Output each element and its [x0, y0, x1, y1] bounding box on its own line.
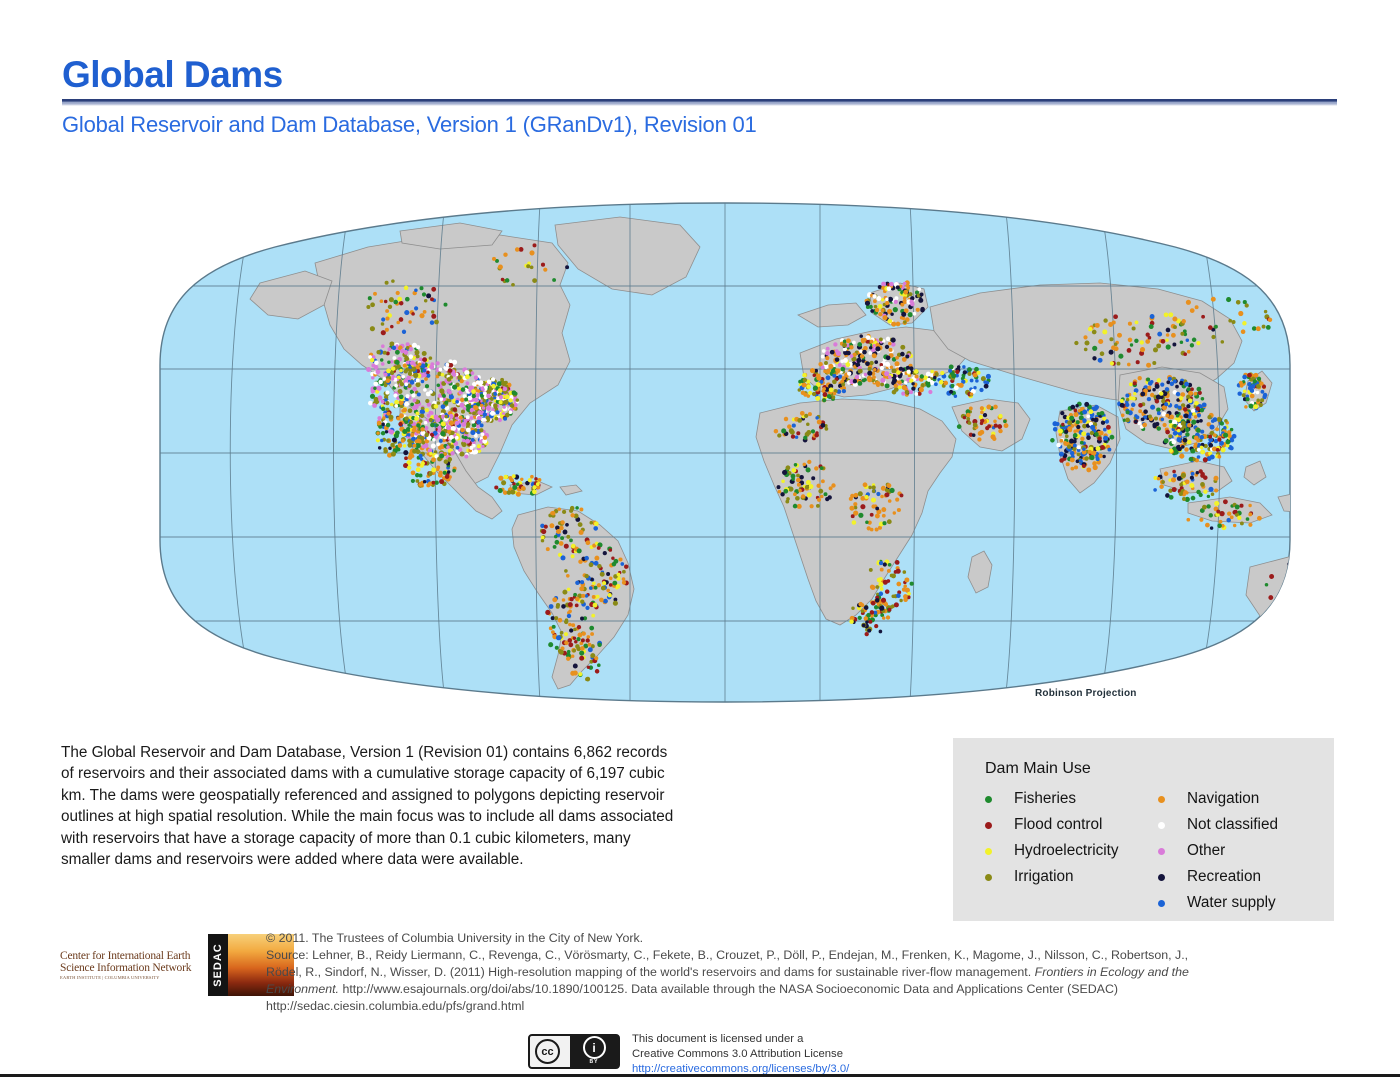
sedac-badge: SEDAC [208, 934, 228, 996]
page-subtitle: Global Reservoir and Dam Database, Versi… [62, 112, 1337, 138]
legend-label: Not classified [1187, 816, 1278, 834]
cc-by-icon: i BY [570, 1036, 618, 1067]
legend-item-not-classified[interactable]: Not classified [1158, 812, 1328, 838]
legend-label: Navigation [1187, 790, 1259, 808]
license-line-2: Creative Commons 3.0 Attribution License [632, 1047, 849, 1062]
source-line-1: Source: Lehner, B., Reidy Liermann, C., … [266, 947, 1366, 964]
legend-panel: Dam Main Use Fisheries Flood control Hyd… [953, 738, 1334, 921]
legend-swatch-icon [1158, 874, 1165, 881]
legend-item-water-supply[interactable]: Water supply [1158, 890, 1328, 916]
source-url[interactable]: http://sedac.ciesin.columbia.edu/pfs/gra… [266, 998, 1366, 1015]
title-divider [62, 99, 1337, 106]
ciesin-logo: Center for International Earth Science I… [60, 934, 210, 996]
legend-swatch-icon [985, 796, 992, 803]
cc-logo-icon: cc [535, 1039, 560, 1064]
page-header: Global Dams Global Reservoir and Dam Dat… [62, 56, 1337, 138]
legend-item-recreation[interactable]: Recreation [1158, 864, 1328, 890]
license-text: This document is licensed under a Creati… [632, 1032, 849, 1077]
legend-label: Flood control [1014, 816, 1102, 834]
legend-item-flood-control[interactable]: Flood control [985, 812, 1155, 838]
legend-label: Water supply [1187, 894, 1276, 912]
legend-swatch-icon [985, 848, 992, 855]
ciesin-line-1: Center for International Earth [60, 950, 210, 962]
legend-label: Other [1187, 842, 1225, 860]
legend-column-right: Navigation Not classified Other Recreati… [1158, 786, 1328, 916]
description-paragraph: The Global Reservoir and Dam Database, V… [61, 742, 676, 870]
legend-item-irrigation[interactable]: Irrigation [985, 864, 1155, 890]
sedac-badge-label: SEDAC [212, 943, 224, 987]
citation-block: © 2011. The Trustees of Columbia Univers… [266, 930, 1366, 1016]
source-line-2: Rödel, R., Sindorf, N., Wisser, D. (2011… [266, 964, 1366, 981]
legend-item-fisheries[interactable]: Fisheries [985, 786, 1155, 812]
legend-item-navigation[interactable]: Navigation [1158, 786, 1328, 812]
legend-label: Irrigation [1014, 868, 1074, 886]
source-line-2-text: Rödel, R., Sindorf, N., Wisser, D. (2011… [266, 965, 1035, 979]
legend-swatch-icon [1158, 796, 1165, 803]
journal-name-part-1: Frontiers in Ecology and the [1035, 965, 1189, 979]
legend-item-other[interactable]: Other [1158, 838, 1328, 864]
legend-swatch-icon [985, 822, 992, 829]
legend-label: Hydroelectricity [1014, 842, 1119, 860]
legend-item-hydroelectricity[interactable]: Hydroelectricity [985, 838, 1155, 864]
journal-name-part-2: Environment. [266, 982, 339, 996]
cc-by-label: BY [590, 1059, 599, 1065]
legend-column-left: Fisheries Flood control Hydroelectricity… [985, 786, 1155, 890]
page-title: Global Dams [62, 56, 1337, 95]
ciesin-line-3: EARTH INSTITUTE | COLUMBIA UNIVERSITY [60, 975, 210, 980]
license-block: cc i BY This document is licensed under … [528, 1032, 948, 1076]
legend-title: Dam Main Use [985, 760, 1091, 778]
source-line-3: Environment. http://www.esajournals.org/… [266, 981, 1366, 998]
world-map-svg [100, 185, 1350, 720]
legend-swatch-icon [1158, 822, 1165, 829]
ciesin-logo-text: Center for International Earth Science I… [60, 950, 210, 980]
license-line-1: This document is licensed under a [632, 1032, 849, 1047]
source-line-3-text: http://www.esajournals.org/doi/abs/10.18… [339, 982, 1118, 996]
legend-swatch-icon [1158, 900, 1165, 907]
legend-swatch-icon [1158, 848, 1165, 855]
legend-label: Recreation [1187, 868, 1261, 886]
legend-swatch-icon [985, 874, 992, 881]
copyright-line: © 2011. The Trustees of Columbia Univers… [266, 930, 1366, 947]
legend-label: Fisheries [1014, 790, 1076, 808]
bottom-divider [0, 1074, 1400, 1077]
ciesin-line-2: Science Information Network [60, 962, 210, 974]
projection-label: Robinson Projection [1035, 688, 1137, 699]
cc-person-icon: i [583, 1036, 606, 1059]
world-map-figure: Robinson Projection [100, 185, 1350, 720]
creative-commons-badge-icon[interactable]: cc i BY [528, 1034, 620, 1069]
